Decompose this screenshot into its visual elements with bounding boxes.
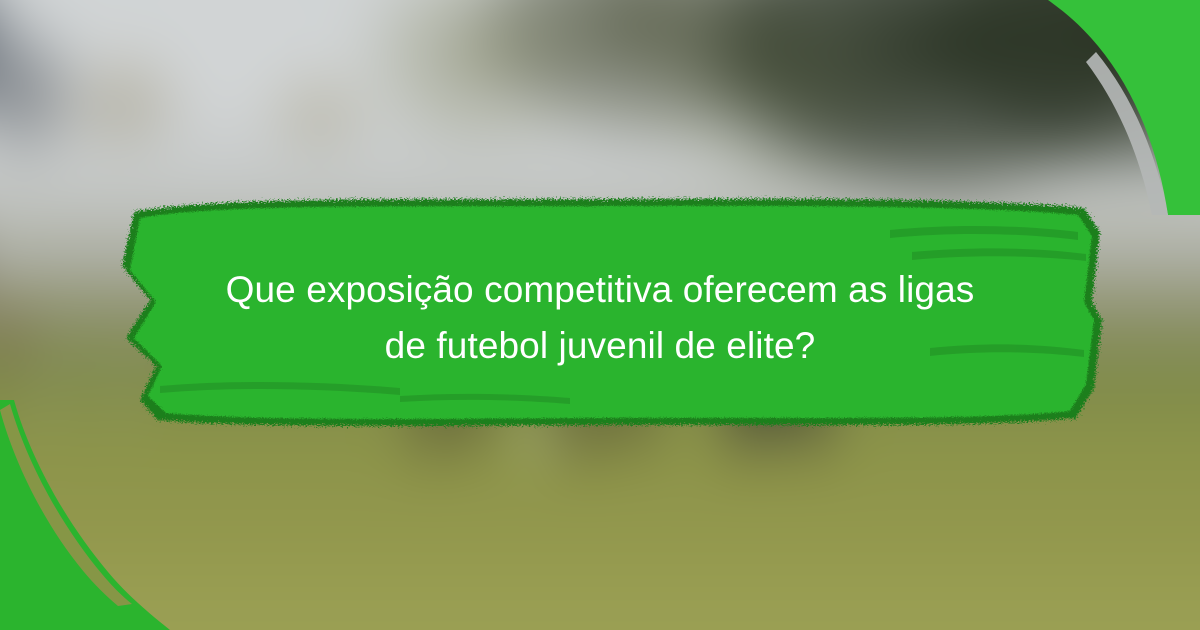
corner-swoosh-top-right-icon [1040,0,1200,215]
page-title: Que exposição competitiva oferecem as li… [150,262,1050,374]
share-card: Que exposição competitiva oferecem as li… [0,0,1200,630]
